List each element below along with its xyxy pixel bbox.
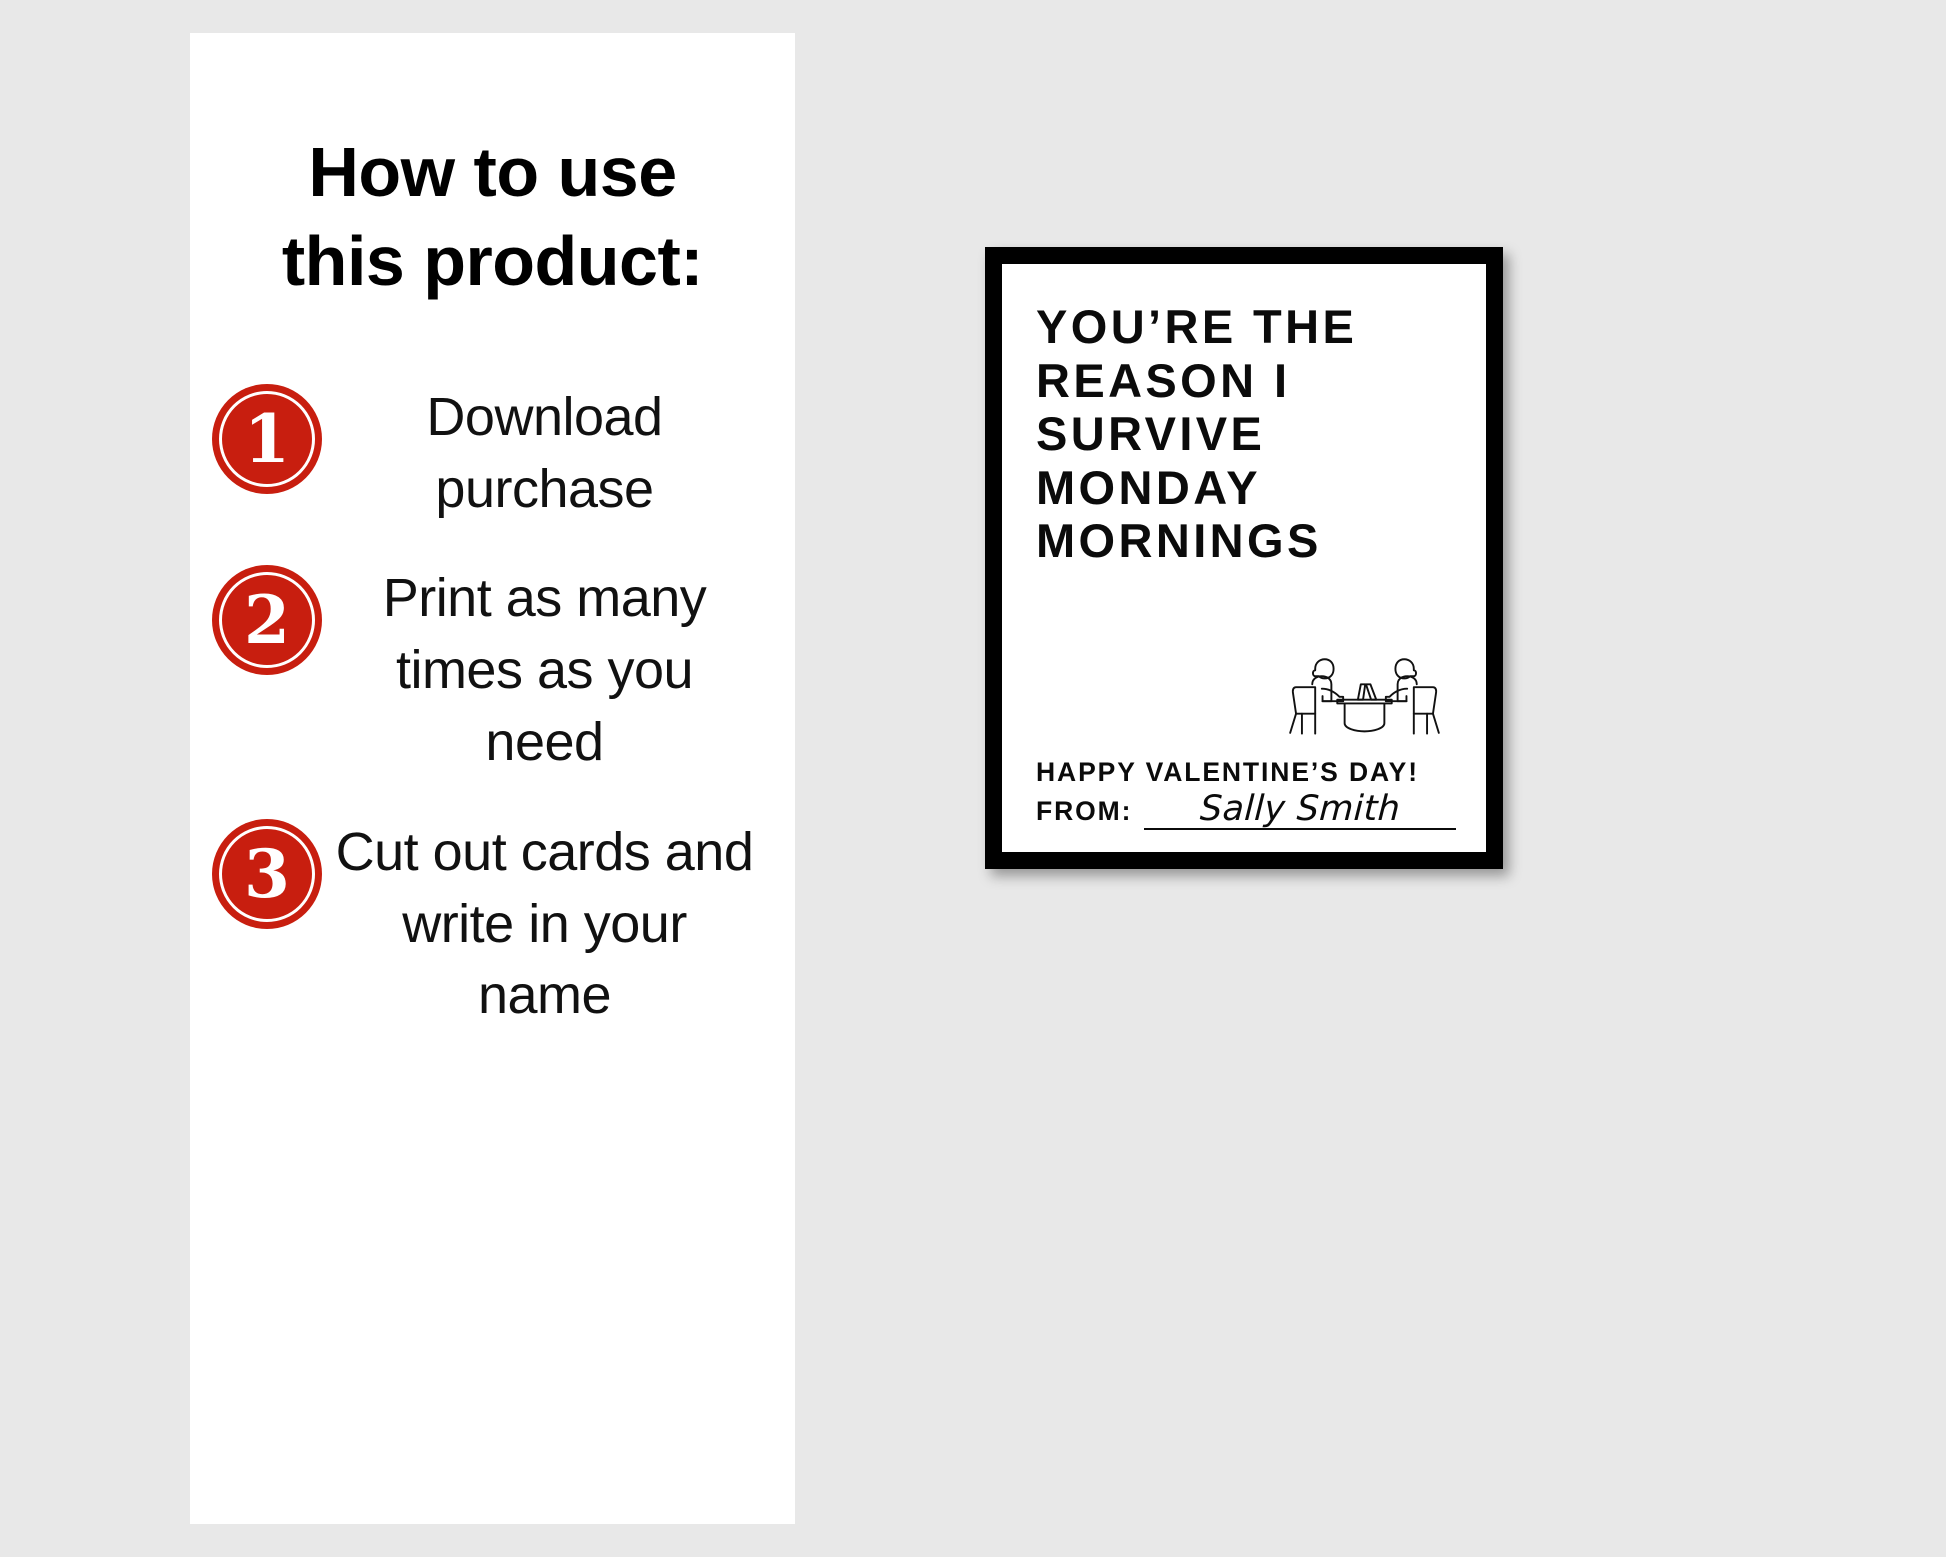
- step-number-label: 3: [212, 819, 322, 929]
- steps-list: 1 Download purchase 2 Print as many time…: [190, 306, 795, 1033]
- signature-text: Sally Smith: [1199, 792, 1401, 828]
- card-from-row: FROM: Sally Smith: [1036, 792, 1456, 830]
- list-item: 2 Print as many times as you need: [212, 559, 755, 778]
- valentine-card: YOU’RE THE REASON I SURVIVE MONDAY MORNI…: [1002, 264, 1486, 852]
- step-number-badge-icon: 1: [212, 384, 322, 494]
- instructions-heading: How to use this product:: [190, 33, 795, 306]
- step-description: Cut out cards and write in your name: [334, 813, 755, 1032]
- step-description: Print as many times as you need: [334, 559, 755, 778]
- card-greeting: HAPPY VALENTINE’S DAY!: [1036, 757, 1456, 788]
- instructions-panel: How to use this product: 1 Download purc…: [190, 33, 795, 1524]
- two-people-at-table-with-laptops-icon: [1277, 646, 1452, 738]
- step-number-badge-icon: 2: [212, 565, 322, 675]
- card-footer: HAPPY VALENTINE’S DAY! FROM: Sally Smith: [1036, 757, 1456, 830]
- card-headline: YOU’RE THE REASON I SURVIVE MONDAY MORNI…: [1036, 300, 1452, 568]
- list-item: 1 Download purchase: [212, 378, 755, 526]
- step-number-label: 1: [212, 384, 322, 494]
- card-from-label: FROM:: [1036, 796, 1132, 830]
- step-description: Download purchase: [334, 378, 755, 526]
- signature-line[interactable]: Sally Smith: [1144, 792, 1456, 830]
- step-number-badge-icon: 3: [212, 819, 322, 929]
- valentine-card-frame: YOU’RE THE REASON I SURVIVE MONDAY MORNI…: [985, 247, 1503, 869]
- list-item: 3 Cut out cards and write in your name: [212, 813, 755, 1032]
- step-number-label: 2: [212, 565, 322, 675]
